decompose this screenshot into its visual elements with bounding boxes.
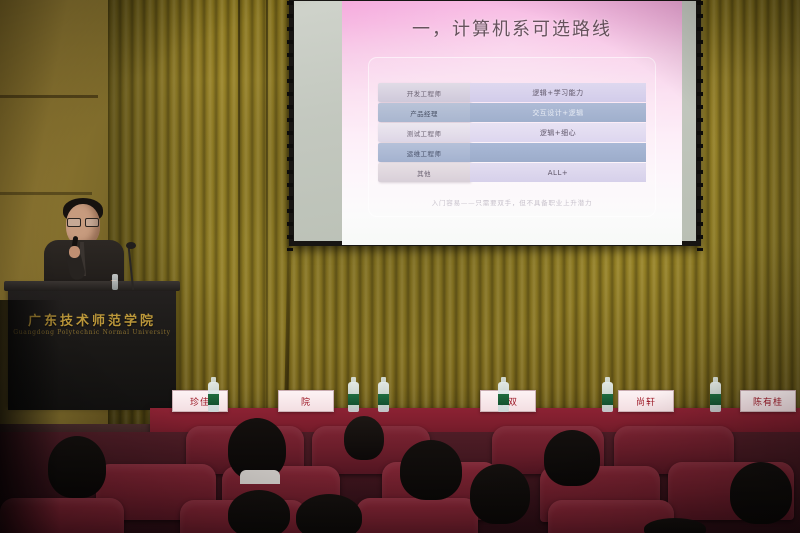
audience-head xyxy=(296,494,362,533)
slide-row-label: 运维工程师 xyxy=(378,143,470,162)
slide-row-value: ALL+ xyxy=(470,163,646,182)
slide-row-value: 逻辑+细心 xyxy=(470,123,646,142)
audience-seating xyxy=(0,432,800,533)
podium-water-bottle xyxy=(112,274,118,290)
slide-row-value: 逻辑+学习能力 xyxy=(470,83,646,102)
audience-shirt xyxy=(240,470,280,484)
glasses-icon xyxy=(67,218,99,225)
slide-table-row: 其他 ALL+ xyxy=(378,163,646,182)
water-bottle xyxy=(348,382,359,412)
projection-screen: 一，计算机系可选路线 开发工程师 逻辑+学习能力 产品经理 交互设计+逻辑 测试… xyxy=(289,0,701,246)
audience-head xyxy=(400,440,462,500)
lecture-hall-photo: 一，计算机系可选路线 开发工程师 逻辑+学习能力 产品经理 交互设计+逻辑 测试… xyxy=(0,0,800,533)
name-card: 陈有桂 xyxy=(740,390,796,412)
slide-row-value xyxy=(470,143,646,162)
screen-hooks-right xyxy=(697,1,703,251)
screen-hooks-left xyxy=(287,1,293,251)
slide-row-label: 产品经理 xyxy=(378,103,470,122)
name-card: 珍佳 xyxy=(172,390,228,412)
slide-table-row: 产品经理 交互设计+逻辑 xyxy=(378,103,646,122)
curtain-fold xyxy=(266,0,268,440)
water-bottle xyxy=(208,382,219,412)
slide-caption: 入门容易——只需要双手，但不具备职业上升潜力 xyxy=(342,197,682,207)
curtain-fold xyxy=(238,0,240,440)
left-shadow xyxy=(0,300,60,533)
water-bottle xyxy=(378,382,389,412)
audience-head xyxy=(228,490,290,533)
slide-row-value: 交互设计+逻辑 xyxy=(470,103,646,122)
audience-head xyxy=(544,430,600,486)
slide-table: 开发工程师 逻辑+学习能力 产品经理 交互设计+逻辑 测试工程师 逻辑+细心 运… xyxy=(378,83,646,183)
presenter-hand xyxy=(69,246,80,258)
auditorium-seat xyxy=(356,498,478,533)
audience-head xyxy=(344,416,384,460)
water-bottle xyxy=(710,382,721,412)
audience-head xyxy=(730,462,792,524)
audience-head xyxy=(644,518,706,533)
water-bottle xyxy=(602,382,613,412)
slide-table-row: 开发工程师 逻辑+学习能力 xyxy=(378,83,646,102)
water-bottle xyxy=(498,382,509,412)
slide-row-label: 其他 xyxy=(378,163,470,182)
slide-row-label: 测试工程师 xyxy=(378,123,470,142)
slide-title: 一，计算机系可选路线 xyxy=(342,15,682,41)
slide-table-row: 测试工程师 逻辑+细心 xyxy=(378,123,646,142)
name-card: 院 xyxy=(278,390,334,412)
podium-desktop xyxy=(4,281,180,291)
audience-head xyxy=(470,464,530,524)
slide-table-row: 运维工程师 xyxy=(378,143,646,162)
projected-slide: 一，计算机系可选路线 开发工程师 逻辑+学习能力 产品经理 交互设计+逻辑 测试… xyxy=(342,1,682,245)
slide-row-label: 开发工程师 xyxy=(378,83,470,102)
name-card: 尚轩 xyxy=(618,390,674,412)
podium-microphone-icon xyxy=(126,242,136,249)
